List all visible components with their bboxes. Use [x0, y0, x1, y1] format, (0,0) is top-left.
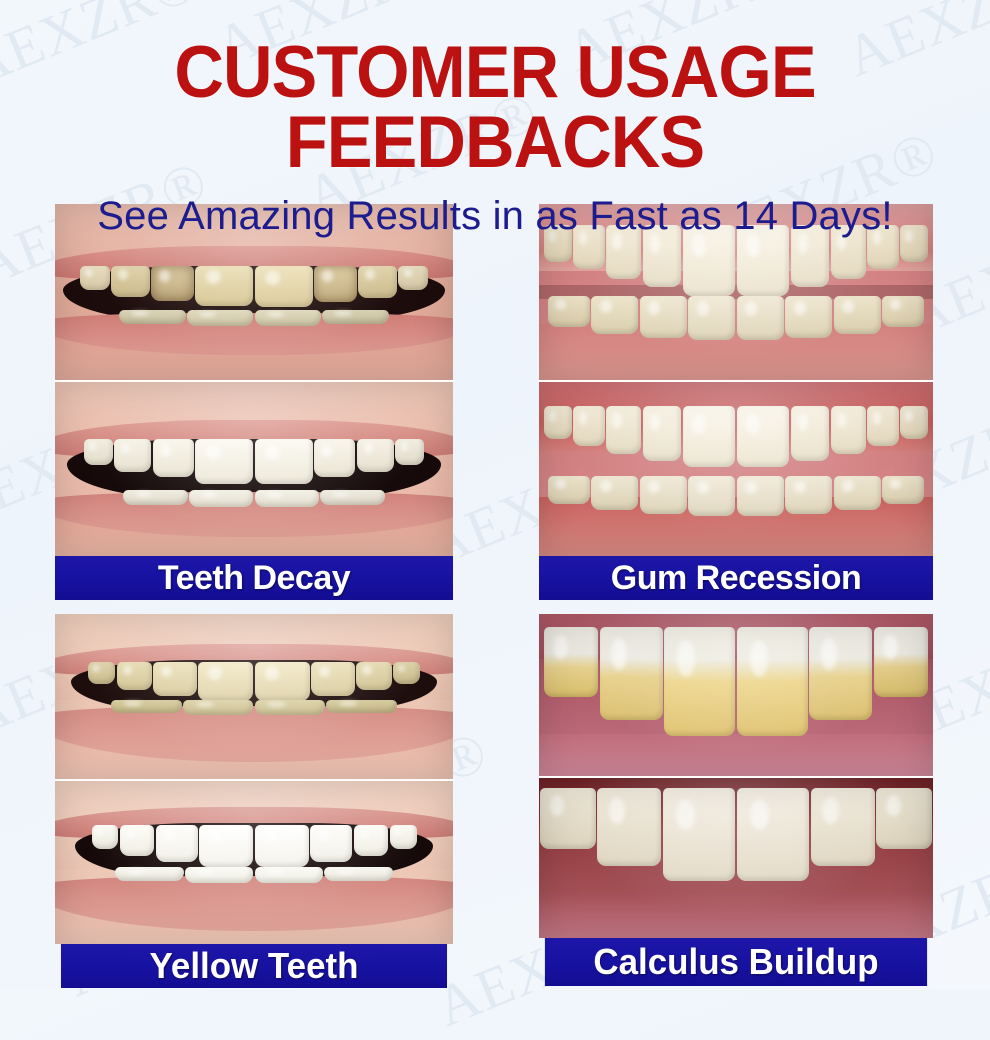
panel-label-teeth-decay: Teeth Decay [55, 556, 453, 600]
photo-pair-yellow-teeth [55, 614, 453, 944]
before-photo-calculus-buildup [539, 614, 933, 776]
after-photo-calculus-buildup [539, 776, 933, 938]
page-subtitle: See Amazing Results in as Fast as 14 Day… [0, 194, 990, 239]
photo-pair-calculus-buildup [539, 614, 933, 938]
after-photo-gum-recession [539, 380, 933, 556]
panel-calculus-buildup[interactable]: Calculus Buildup [539, 614, 933, 988]
panel-label-yellow-teeth: Yellow Teeth [61, 944, 447, 988]
photo-pair-gum-recession [539, 204, 933, 556]
panel-yellow-teeth[interactable]: Yellow Teeth [55, 614, 453, 988]
panel-gum-recession[interactable]: Gum Recession [539, 204, 933, 600]
before-photo-yellow-teeth [55, 614, 453, 779]
feedback-panel-grid: Teeth Decay [55, 204, 933, 988]
page-title: CUSTOMER USAGE FEEDBACKS [30, 38, 961, 178]
panel-label-gum-recession: Gum Recession [539, 556, 933, 600]
photo-pair-teeth-decay [55, 204, 453, 556]
panel-label-calculus-buildup: Calculus Buildup [545, 938, 927, 986]
panel-teeth-decay[interactable]: Teeth Decay [55, 204, 453, 600]
header: CUSTOMER USAGE FEEDBACKS See Amazing Res… [0, 0, 990, 239]
after-photo-yellow-teeth [55, 779, 453, 944]
after-photo-teeth-decay [55, 380, 453, 556]
